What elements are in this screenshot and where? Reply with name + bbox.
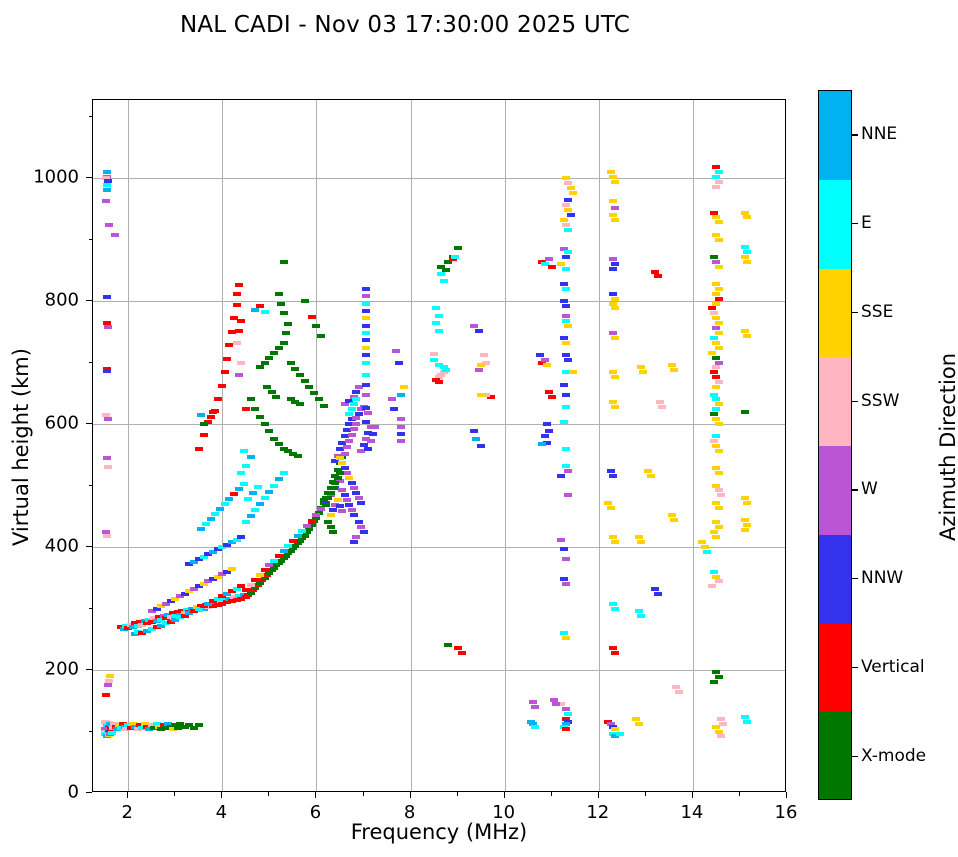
data-point: [712, 397, 720, 401]
data-point: [562, 727, 570, 731]
data-point: [327, 525, 335, 529]
data-point: [564, 469, 572, 473]
data-point: [327, 491, 335, 495]
data-point: [312, 324, 320, 328]
colorbar-tick: [852, 489, 858, 490]
data-point: [475, 329, 483, 333]
data-point: [104, 179, 112, 183]
data-point: [280, 341, 288, 345]
colorbar-label-vertical: Vertical: [861, 657, 925, 677]
data-point: [743, 215, 751, 219]
data-point: [338, 488, 346, 492]
data-point: [741, 211, 749, 215]
data-point: [103, 170, 111, 174]
data-point: [611, 607, 619, 611]
data-point: [712, 341, 720, 345]
data-point: [362, 338, 370, 342]
data-point: [442, 368, 450, 372]
data-point: [632, 717, 640, 721]
data-point: [562, 314, 570, 318]
data-point: [543, 422, 551, 426]
data-point: [103, 534, 111, 538]
colorbar-label-w: W: [861, 479, 878, 499]
data-point: [336, 504, 344, 508]
data-point: [715, 730, 723, 734]
data-point: [221, 502, 229, 506]
data-point: [362, 324, 370, 328]
colorbar[interactable]: [818, 90, 852, 800]
data-point: [270, 437, 278, 441]
data-point: [233, 292, 241, 296]
gridline-vertical: [222, 100, 223, 791]
data-point: [564, 324, 572, 328]
data-point: [362, 361, 370, 365]
data-point: [717, 493, 725, 497]
data-point: [254, 485, 262, 489]
data-point: [265, 490, 273, 494]
data-point: [103, 188, 111, 192]
data-point: [454, 646, 462, 650]
data-point: [609, 331, 617, 335]
data-point: [242, 520, 250, 524]
data-point: [352, 390, 360, 394]
data-point: [317, 334, 325, 338]
colorbar-segment-sse[interactable]: [819, 269, 851, 358]
data-point: [256, 573, 264, 577]
data-point: [329, 508, 337, 512]
data-point: [719, 722, 727, 726]
data-point: [545, 257, 553, 261]
data-point: [712, 233, 720, 237]
data-point: [392, 349, 400, 353]
y-tick-minor: [89, 485, 93, 486]
data-point: [104, 417, 112, 421]
data-point: [451, 255, 459, 259]
data-point: [303, 524, 311, 528]
gridline-horizontal: [93, 424, 785, 425]
data-point: [233, 303, 241, 307]
data-point: [536, 353, 544, 357]
data-point: [364, 447, 372, 451]
data-point: [712, 417, 720, 421]
data-point: [369, 432, 377, 436]
data-point: [609, 175, 617, 179]
data-point: [280, 549, 288, 553]
data-point: [743, 260, 751, 264]
chart-title: NAL CADI - Nov 03 17:30:00 2025 UTC: [0, 12, 810, 38]
data-point: [743, 720, 751, 724]
data-point: [348, 407, 356, 411]
data-point: [432, 321, 440, 325]
gridline-vertical: [411, 100, 412, 791]
colorbar-label-nnw: NNW: [861, 568, 903, 588]
colorbar-label-x-mode: X-mode: [861, 746, 926, 766]
data-point: [345, 439, 353, 443]
data-point: [470, 429, 478, 433]
data-point: [743, 334, 751, 338]
gridline-horizontal: [93, 301, 785, 302]
data-point: [367, 439, 375, 443]
data-point: [703, 550, 711, 554]
colorbar-segment-ssw[interactable]: [819, 357, 851, 446]
data-point: [345, 476, 353, 480]
colorbar-segment-vertical[interactable]: [819, 624, 851, 713]
data-point: [712, 385, 720, 389]
data-point: [611, 180, 619, 184]
data-point: [651, 587, 659, 591]
data-point: [541, 358, 549, 362]
data-point: [104, 683, 112, 687]
data-point: [268, 390, 276, 394]
data-point: [715, 287, 723, 291]
data-point: [435, 329, 443, 333]
data-point: [211, 409, 219, 413]
y-tick-minor: [89, 731, 93, 732]
data-point: [675, 690, 683, 694]
colorbar-segment-e[interactable]: [819, 180, 851, 269]
data-point: [348, 508, 356, 512]
data-point: [564, 208, 572, 212]
data-point: [712, 535, 720, 539]
data-point: [329, 530, 337, 534]
data-point: [712, 215, 720, 219]
data-point: [562, 393, 570, 397]
data-point: [301, 534, 309, 538]
data-point: [480, 353, 488, 357]
data-point: [265, 429, 273, 433]
data-point: [710, 680, 718, 684]
data-point: [708, 351, 716, 355]
data-point: [562, 582, 570, 586]
data-point: [263, 385, 271, 389]
data-point: [715, 422, 723, 426]
x-tick: [410, 792, 411, 798]
data-point: [609, 400, 617, 404]
data-point: [668, 363, 676, 367]
y-tick-minor: [89, 239, 93, 240]
x-tick: [692, 792, 693, 798]
data-point: [562, 267, 570, 271]
y-tick-minor: [89, 362, 93, 363]
data-point: [710, 412, 718, 416]
data-point: [320, 404, 328, 408]
data-point: [111, 233, 119, 237]
data-point: [327, 513, 335, 517]
colorbar-axis-label: Azimuth Direction: [936, 337, 958, 557]
y-axis-label: Virtual height (km): [9, 337, 33, 557]
data-point: [548, 265, 556, 269]
data-point: [712, 185, 720, 189]
data-point: [195, 723, 203, 727]
data-point: [741, 329, 749, 333]
data-point: [343, 445, 351, 449]
data-point: [104, 325, 112, 329]
data-point: [635, 609, 643, 613]
data-point: [609, 257, 617, 261]
data-point: [609, 302, 617, 306]
y-tick: [86, 546, 92, 547]
data-point: [562, 447, 570, 451]
data-point: [710, 393, 718, 397]
data-point: [710, 439, 718, 443]
data-point: [270, 484, 278, 488]
data-point: [440, 279, 448, 283]
data-point: [712, 466, 720, 470]
data-point: [710, 311, 718, 315]
data-point: [242, 407, 250, 411]
x-tick: [127, 792, 128, 798]
data-point: [710, 370, 718, 374]
plot-area[interactable]: [92, 99, 786, 792]
data-point: [103, 369, 111, 373]
data-point: [308, 315, 316, 319]
data-point: [715, 675, 723, 679]
data-point: [275, 292, 283, 296]
data-point: [715, 506, 723, 510]
y-tick-minor: [89, 608, 93, 609]
data-point: [362, 353, 370, 357]
data-point: [656, 400, 664, 404]
data-point: [560, 547, 568, 551]
data-point: [548, 395, 556, 399]
data-point: [103, 456, 111, 460]
data-point: [216, 507, 224, 511]
colorbar-segment-nne[interactable]: [819, 91, 851, 180]
data-point: [741, 528, 749, 532]
data-point: [277, 302, 285, 306]
data-point: [235, 487, 243, 491]
data-point: [531, 705, 539, 709]
data-point: [355, 496, 363, 500]
data-point: [545, 390, 553, 394]
data-point: [562, 353, 570, 357]
data-point: [350, 513, 358, 517]
data-point: [228, 567, 236, 571]
data-point: [352, 416, 360, 420]
data-point: [352, 422, 360, 426]
data-point: [247, 514, 255, 518]
data-point: [635, 535, 643, 539]
data-point: [207, 517, 215, 521]
data-point: [275, 554, 283, 558]
data-point: [562, 304, 570, 308]
data-point: [301, 299, 309, 303]
data-point: [639, 370, 647, 374]
data-point: [308, 519, 316, 523]
data-point: [442, 268, 450, 272]
data-point: [715, 525, 723, 529]
data-point: [265, 356, 273, 360]
data-point: [435, 363, 443, 367]
data-point: [265, 563, 273, 567]
data-point: [564, 712, 572, 716]
data-point: [397, 393, 405, 397]
data-point: [654, 274, 662, 278]
data-point: [715, 331, 723, 335]
data-point: [362, 294, 370, 298]
colorbar-segment-nnw[interactable]: [819, 535, 851, 624]
data-point: [609, 213, 617, 217]
data-point: [741, 496, 749, 500]
data-point: [430, 358, 438, 362]
colorbar-segment-w[interactable]: [819, 446, 851, 535]
data-point: [712, 316, 720, 320]
data-point: [560, 299, 568, 303]
data-point: [280, 471, 288, 475]
data-point: [345, 412, 353, 416]
data-point: [541, 434, 549, 438]
data-point: [298, 529, 306, 533]
data-point: [371, 425, 379, 429]
data-point: [435, 314, 443, 318]
data-point: [350, 402, 358, 406]
data-point: [560, 336, 568, 340]
data-point: [712, 434, 720, 438]
data-point: [315, 397, 323, 401]
x-tick: [504, 792, 505, 798]
data-point: [348, 433, 356, 437]
data-point: [352, 491, 360, 495]
data-point: [741, 245, 749, 249]
data-point: [103, 183, 111, 187]
data-point: [388, 397, 396, 401]
data-point: [282, 331, 290, 335]
data-point: [294, 454, 302, 458]
data-point: [562, 464, 570, 468]
data-point: [197, 413, 205, 417]
data-point: [562, 319, 570, 323]
x-tick: [221, 792, 222, 798]
data-point: [715, 180, 723, 184]
data-point: [562, 223, 570, 227]
data-point: [256, 365, 264, 369]
data-point: [609, 267, 617, 271]
data-point: [545, 429, 553, 433]
data-point: [560, 282, 568, 286]
data-point: [362, 287, 370, 291]
data-point: [672, 685, 680, 689]
colorbar-label-nne: NNE: [861, 124, 897, 144]
data-point: [251, 578, 259, 582]
x-tick-minor: [174, 792, 175, 796]
data-point: [712, 575, 720, 579]
data-point: [560, 631, 568, 635]
data-point: [472, 437, 480, 441]
colorbar-tick: [852, 134, 858, 135]
data-point: [195, 447, 203, 451]
data-point: [364, 411, 372, 415]
data-point: [200, 422, 208, 426]
data-point: [569, 191, 577, 195]
data-point: [616, 732, 624, 736]
data-point: [475, 368, 483, 372]
data-point: [345, 503, 353, 507]
data-point: [564, 181, 572, 185]
data-point: [564, 228, 572, 232]
data-point: [261, 310, 269, 314]
data-point: [712, 501, 720, 505]
data-point: [444, 643, 452, 647]
data-point: [310, 391, 318, 395]
data-point: [710, 570, 718, 574]
data-point: [712, 165, 720, 169]
data-point: [261, 422, 269, 426]
data-point: [261, 568, 269, 572]
data-point: [200, 433, 208, 437]
colorbar-segment-x-mode[interactable]: [819, 712, 851, 800]
data-point: [531, 725, 539, 729]
data-point: [715, 380, 723, 384]
data-point: [362, 383, 370, 387]
data-point: [712, 326, 720, 330]
data-point: [249, 491, 257, 495]
y-tick: [86, 423, 92, 424]
data-point: [564, 198, 572, 202]
data-point: [225, 497, 233, 501]
data-point: [609, 292, 617, 296]
data-point: [712, 484, 720, 488]
data-point: [312, 513, 320, 517]
data-point: [240, 482, 248, 486]
data-point: [670, 368, 678, 372]
data-point: [562, 636, 570, 640]
data-point: [560, 420, 568, 424]
colorbar-label-sse: SSE: [861, 302, 893, 322]
data-point: [637, 365, 645, 369]
data-point: [562, 176, 570, 180]
data-point: [562, 203, 570, 207]
data-point: [214, 397, 222, 401]
y-tick: [86, 177, 92, 178]
data-point: [362, 331, 370, 335]
data-point: [609, 646, 617, 650]
data-point: [362, 309, 370, 313]
data-point: [280, 260, 288, 264]
data-point: [715, 220, 723, 224]
x-tick-minor: [645, 792, 646, 796]
colorbar-tick: [852, 223, 858, 224]
data-point: [432, 306, 440, 310]
data-point: [717, 734, 725, 738]
y-tick: [86, 300, 92, 301]
data-point: [715, 265, 723, 269]
data-point: [743, 501, 751, 505]
data-point: [564, 358, 572, 362]
data-point: [197, 527, 205, 531]
data-point: [343, 471, 351, 475]
colorbar-tick: [852, 312, 858, 313]
data-point: [611, 727, 619, 731]
data-point: [454, 246, 462, 250]
data-point: [710, 336, 718, 340]
data-point: [712, 375, 720, 379]
data-point: [301, 379, 309, 383]
data-point: [202, 522, 210, 526]
data-point: [437, 272, 445, 276]
data-point: [560, 577, 568, 581]
data-point: [557, 474, 565, 478]
data-point: [715, 238, 723, 242]
data-point: [708, 584, 716, 588]
data-point: [741, 715, 749, 719]
data-point: [743, 523, 751, 527]
gridline-horizontal: [93, 547, 785, 548]
data-point: [609, 474, 617, 478]
data-point: [207, 415, 215, 419]
data-point: [106, 674, 114, 678]
data-point: [550, 698, 558, 702]
y-tick: [86, 792, 92, 793]
